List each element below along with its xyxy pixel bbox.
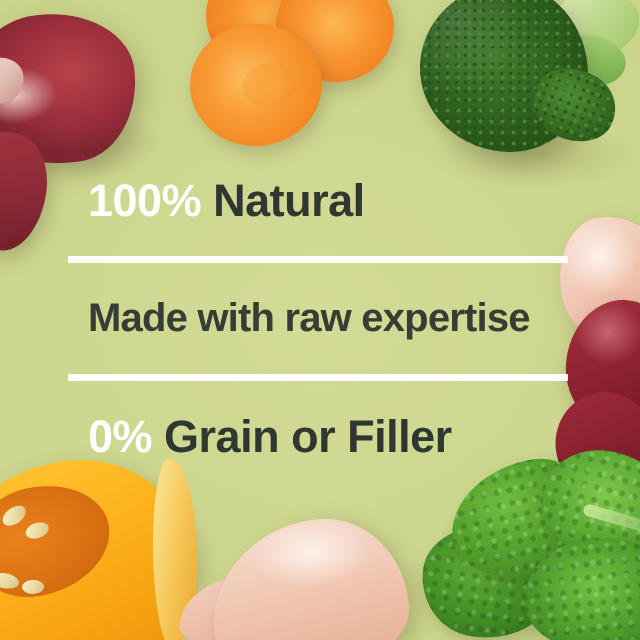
divider-top: [68, 256, 568, 263]
claim-grain: 0% Grain or Filler: [88, 408, 588, 466]
claims-block: 100% Natural Made with raw expertise 0% …: [0, 0, 640, 640]
claim-grain-label: Grain or Filler: [164, 411, 452, 462]
divider-bottom: [68, 374, 568, 381]
claim-grain-percent: 0%: [88, 411, 164, 462]
claim-natural-percent: 100%: [88, 175, 213, 226]
claim-expertise-label: Made with raw expertise: [88, 296, 530, 340]
claim-natural-label: Natural: [213, 175, 365, 226]
claim-natural: 100% Natural: [88, 172, 588, 230]
promo-banner: 100% Natural Made with raw expertise 0% …: [0, 0, 640, 640]
claim-expertise: Made with raw expertise: [88, 292, 588, 344]
